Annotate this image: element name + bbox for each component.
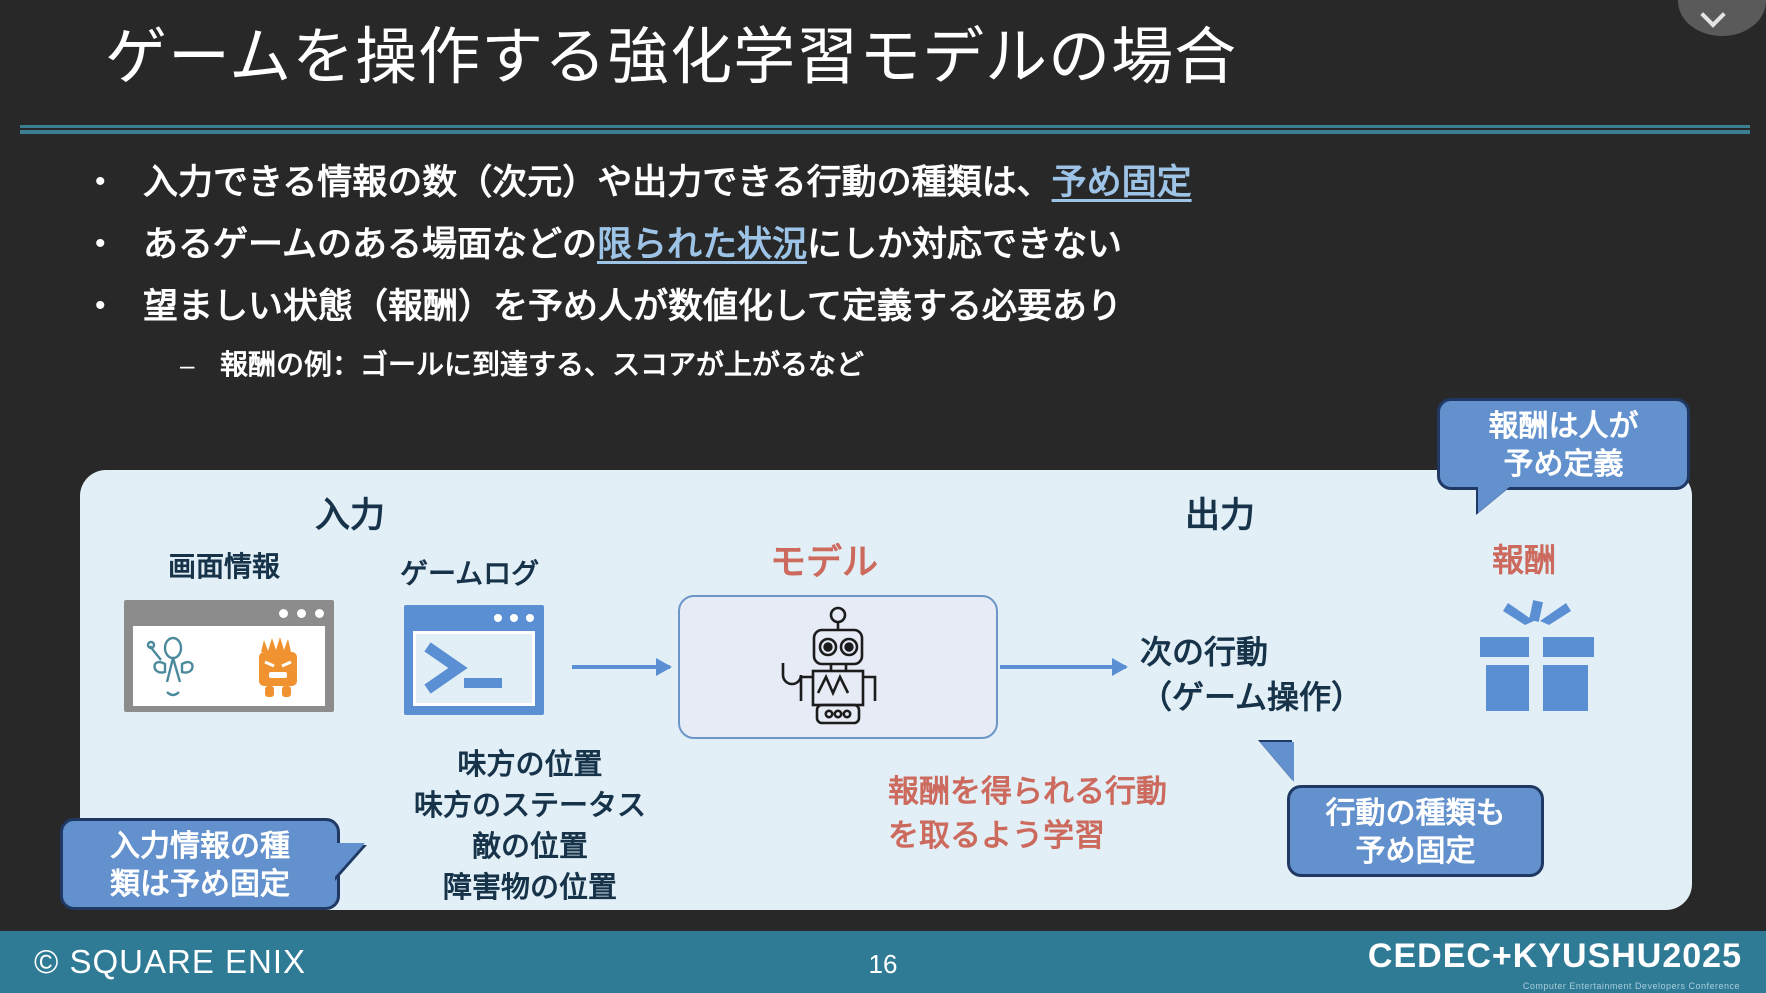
screen-canvas	[133, 626, 325, 706]
terminal-prompt-icon	[416, 634, 534, 706]
title-divider	[20, 125, 1750, 134]
feature-item: 敵の位置	[380, 827, 680, 868]
callout-input: 入力情報の種 類は予め固定	[60, 818, 340, 910]
arrow-input-to-model	[572, 665, 670, 669]
bullet-text-1-before: 入力できる情報の数（次元）や出力できる行動の種類は、	[143, 163, 1052, 202]
robot-icon	[773, 605, 903, 731]
learning-objective-line1: 報酬を得られる行動	[888, 774, 1167, 809]
callout-tail-icon	[333, 843, 365, 879]
learning-objective-text: 報酬を得られる行動 を取るよう学習	[888, 770, 1167, 858]
arrow-model-to-output	[1000, 665, 1126, 669]
next-action-line1: 次の行動	[1140, 634, 1268, 670]
bullet-item-2: • あるゲームのある場面などの限られた状況にしか対応できない	[95, 222, 1715, 268]
feature-item: 障害物の位置	[380, 868, 680, 909]
enemy-icon	[259, 637, 297, 697]
input-feature-list: 味方の位置 味方のステータス 敵の位置 障害物の位置	[380, 745, 680, 909]
bullet-marker: •	[95, 160, 143, 204]
slide-footer: © SQUARE ENIX 16 CEDEC+KYUSHU2025 Comput…	[0, 931, 1766, 993]
bullet-marker: •	[95, 284, 143, 328]
slide-root: ゲームを操作する強化学習モデルの場合 • 入力できる情報の数（次元）や出力できる…	[0, 0, 1766, 993]
divider-line-top	[20, 125, 1750, 128]
window-dots-icon	[279, 609, 324, 618]
bullet-text-1: 入力できる情報の数（次元）や出力できる行動の種類は、予め固定	[143, 160, 1192, 206]
bullet-text-2: あるゲームのある場面などの限られた状況にしか対応できない	[143, 222, 1122, 268]
cedec-logo-subtitle: Computer Entertainment Developers Confer…	[1523, 981, 1740, 991]
game-log-label: ゲームログ	[400, 552, 539, 592]
reward-label: 報酬	[1492, 535, 1556, 581]
chevron-up-icon	[1700, 2, 1725, 27]
feature-item: 味方のステータス	[380, 786, 680, 827]
terminal-body	[413, 631, 535, 706]
callout-reward-line2: 予め定義	[1440, 446, 1687, 484]
bullet-list: • 入力できる情報の数（次元）や出力できる行動の種類は、予め固定 • あるゲーム…	[95, 160, 1715, 384]
output-section-label: 出力	[1185, 487, 1255, 538]
callout-input-line2: 類は予め固定	[63, 866, 337, 904]
window-dots-icon	[494, 614, 534, 622]
callout-action-line2: 予め固定	[1290, 833, 1541, 871]
callout-tail-icon	[1260, 742, 1294, 782]
page-title: ゲームを操作する強化学習モデルの場合	[105, 6, 1237, 96]
bullet-text-3: 望ましい状態（報酬）を予め人が数値化して定義する必要あり	[143, 284, 1122, 330]
bullet-item-3: • 望ましい状態（報酬）を予め人が数値化して定義する必要あり	[95, 284, 1715, 330]
callout-reward-line1: 報酬は人が	[1440, 408, 1687, 446]
callout-reward: 報酬は人が 予め定義	[1437, 398, 1690, 490]
model-label: モデル	[770, 533, 878, 585]
next-action-line2: （ゲーム操作）	[1140, 679, 1363, 715]
callout-tail-icon	[1478, 485, 1512, 513]
bullet-item-1: • 入力できる情報の数（次元）や出力できる行動の種類は、予め固定	[95, 160, 1715, 206]
next-action-text: 次の行動 （ゲーム操作）	[1140, 630, 1363, 720]
bullet-text-1-highlight: 予め固定	[1052, 163, 1192, 202]
callout-action: 行動の種類も 予め固定	[1287, 785, 1544, 877]
sub-bullet-marker: –	[180, 346, 220, 384]
screen-info-label: 画面情報	[168, 545, 280, 585]
model-box	[678, 595, 998, 739]
learning-objective-line2: を取るよう学習	[888, 818, 1105, 853]
input-section-label: 入力	[315, 487, 385, 538]
divider-line-bottom	[20, 130, 1750, 134]
cedec-logo: CEDEC+KYUSHU2025	[1368, 937, 1742, 976]
bullet-text-2-highlight: 限られた状況	[597, 225, 807, 264]
bullet-text-2-after: にしか対応できない	[807, 225, 1122, 264]
game-characters-icon	[133, 626, 325, 706]
feature-item: 味方の位置	[380, 745, 680, 786]
sub-bullet-text: 報酬の例：ゴールに到達する、スコアが上がるなど	[220, 346, 864, 384]
sub-bullet-item: – 報酬の例：ゴールに到達する、スコアが上がるなど	[180, 346, 1715, 384]
bullet-marker: •	[95, 222, 143, 266]
gift-box-icon	[1476, 595, 1598, 715]
screen-info-window-icon	[124, 600, 334, 712]
callout-action-line1: 行動の種類も	[1290, 795, 1541, 833]
callout-input-line1: 入力情報の種	[63, 828, 337, 866]
scroll-up-artifact[interactable]	[1678, 0, 1766, 36]
game-log-window-icon	[404, 605, 544, 715]
bullet-text-2-before: あるゲームのある場面などの	[143, 225, 597, 264]
